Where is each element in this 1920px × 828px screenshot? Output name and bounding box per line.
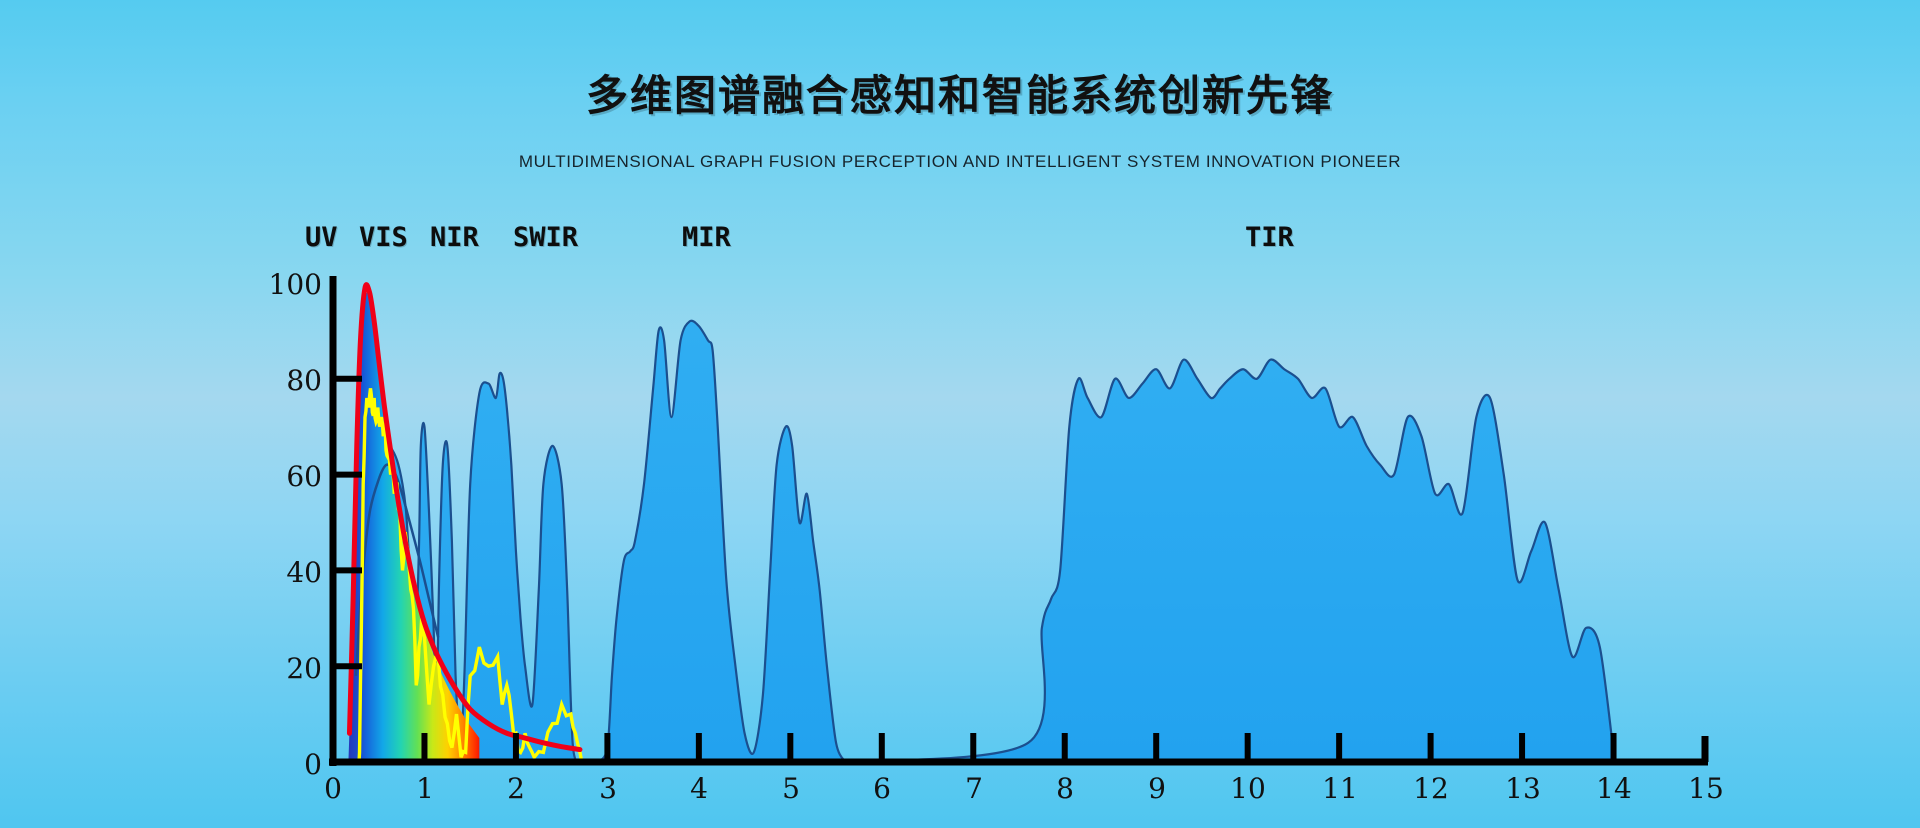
transmission-band-2 (845, 359, 1613, 762)
transmission-band-1 (598, 321, 845, 762)
spectrum-plot (0, 0, 1920, 828)
